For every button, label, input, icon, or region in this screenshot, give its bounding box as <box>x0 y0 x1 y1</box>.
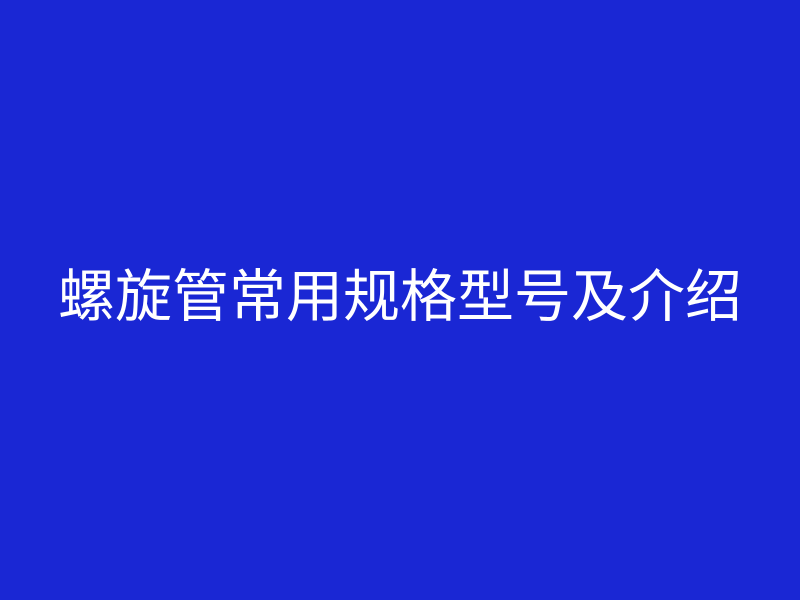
title-slide: 螺旋管常用规格型号及介绍 <box>0 0 800 600</box>
title-block: 螺旋管常用规格型号及介绍 <box>0 262 800 332</box>
page-title: 螺旋管常用规格型号及介绍 <box>58 269 742 326</box>
